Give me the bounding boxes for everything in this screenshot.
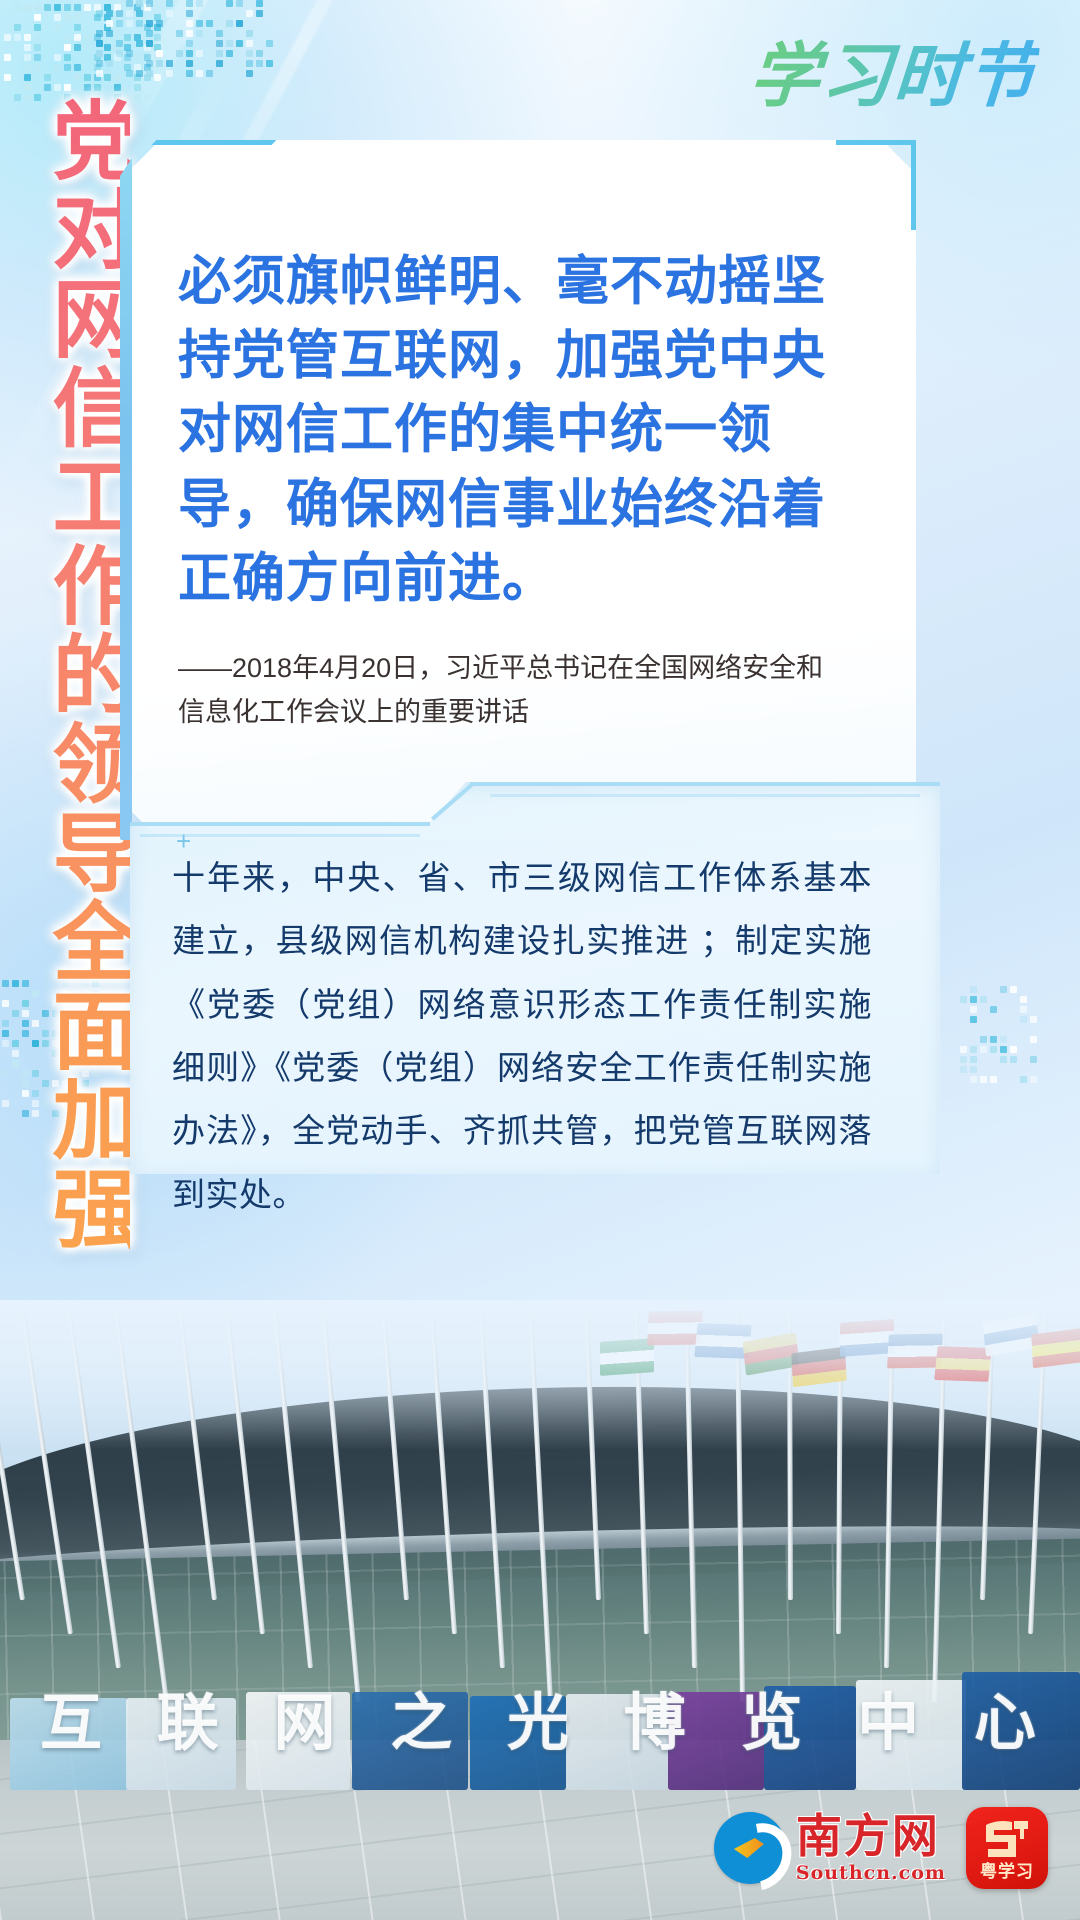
signage-char: 中 (857, 1672, 923, 1762)
southcn-logo[interactable]: 南方网 Southcn.com (714, 1812, 946, 1884)
quote-text: 必须旗帜鲜明、毫不动摇坚持党管互联网，加强党中央对网信工作的集中统一领导，确保网… (178, 244, 838, 615)
brand-logo-text: 学习时节 (746, 20, 1041, 121)
southcn-wordmark: 南方网 Southcn.com (796, 1813, 946, 1883)
signage-char: 网 (273, 1672, 339, 1762)
southcn-name-cn: 南方网 (796, 1813, 946, 1859)
pixel-mosaic-decoration (96, 0, 273, 77)
signage-char: 之 (390, 1672, 456, 1762)
signage-char: 光 (507, 1672, 573, 1762)
signage-char: 览 (740, 1672, 806, 1762)
southcn-mark-icon (714, 1812, 786, 1884)
signage-char: 博 (624, 1672, 690, 1762)
pixel-mosaic-decoration (960, 986, 1037, 1083)
body-paragraph: 十年来，中央、省、市三级网信工作体系基本建立，县级网信机构建设扎实推进 ；制定实… (172, 846, 872, 1226)
poster-root: 学习时节 党对网信工作的领导全面加强 必须旗帜鲜明、毫不动摇坚持党管互联网，加强… (0, 0, 1080, 1920)
quote-card-left-edge (120, 150, 132, 840)
southcn-name-en: Southcn.com (796, 1864, 946, 1883)
signage-char: 心 (974, 1672, 1040, 1762)
brand-logo: 学习时节 (750, 22, 1038, 118)
yuexue-glyph-icon (982, 1819, 1032, 1861)
quote-citation: ——2018年4月20日，习近平总书记在全国网络安全和信息化工作会议上的重要讲话 (178, 647, 838, 734)
signage-char: 联 (157, 1672, 223, 1762)
signage-char: 互 (40, 1672, 106, 1762)
venue-signage: 互联网之光博览中心 (40, 1672, 1040, 1762)
page-title-vertical: 党对网信工作的领导全面加强 (26, 96, 130, 1253)
photo-top-fade (0, 1300, 1080, 1450)
yuexue-app-icon[interactable]: 粤学习 (966, 1807, 1048, 1889)
footer-logos: 南方网 Southcn.com 粤学习 (714, 1800, 1048, 1896)
